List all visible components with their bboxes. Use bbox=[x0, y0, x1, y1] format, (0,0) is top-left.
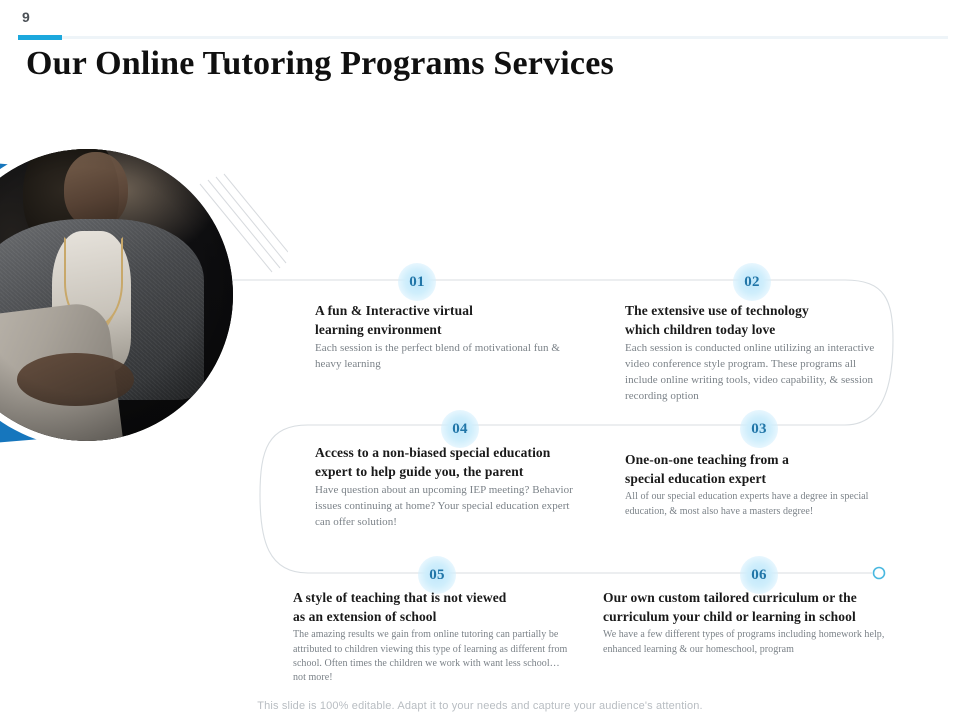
block-description-06: We have a few different types of program… bbox=[603, 628, 885, 656]
block-title-06: Our own custom tailored curriculum or th… bbox=[603, 588, 885, 626]
block-title-line2: special education expert bbox=[625, 471, 766, 486]
block-title-line2: which children today love bbox=[625, 322, 775, 337]
block-title-line2: curriculum your child or learning in sch… bbox=[603, 609, 856, 624]
block-title-05: A style of teaching that is not viewed a… bbox=[293, 588, 575, 626]
block-description-03: All of our special education experts hav… bbox=[625, 490, 893, 518]
block-title-line1: A fun & Interactive virtual bbox=[315, 303, 473, 318]
block-description-02: Each session is conducted online utilizi… bbox=[625, 341, 887, 405]
content-block-05: A style of teaching that is not viewed a… bbox=[293, 588, 575, 685]
decor-diagonal-lines-icon bbox=[198, 168, 288, 278]
step-badge-03: 03 bbox=[740, 410, 778, 448]
block-description-05: The amazing results we gain from online … bbox=[293, 628, 575, 685]
block-title-line1: The extensive use of technology bbox=[625, 303, 809, 318]
block-title-line2: expert to help guide you, the parent bbox=[315, 464, 523, 479]
block-title-line1: Access to a non-biased special education bbox=[315, 445, 550, 460]
content-block-02: The extensive use of technology which ch… bbox=[625, 301, 887, 405]
step-badge-02: 02 bbox=[733, 263, 771, 301]
block-title-04: Access to a non-biased special education… bbox=[315, 443, 587, 481]
header-rule bbox=[18, 36, 948, 39]
content-block-03: One-on-one teaching from a special educa… bbox=[625, 450, 893, 519]
block-title-line1: Our own custom tailored curriculum or th… bbox=[603, 590, 857, 605]
page-number: 9 bbox=[22, 9, 30, 25]
block-title-line2: learning environment bbox=[315, 322, 442, 337]
header-accent-bar bbox=[18, 35, 62, 40]
block-description-01: Each session is the perfect blend of mot… bbox=[315, 341, 565, 373]
block-description-04: Have question about an upcoming IEP meet… bbox=[315, 483, 587, 531]
block-title-line2: as an extension of school bbox=[293, 609, 437, 624]
block-title-line1: A style of teaching that is not viewed bbox=[293, 590, 506, 605]
block-title-line1: One-on-one teaching from a bbox=[625, 452, 789, 467]
content-block-04: Access to a non-biased special education… bbox=[315, 443, 587, 531]
page-title: Our Online Tutoring Programs Services bbox=[26, 45, 614, 83]
block-title-03: One-on-one teaching from a special educa… bbox=[625, 450, 893, 488]
block-title-02: The extensive use of technology which ch… bbox=[625, 301, 887, 339]
slide-canvas: 9 Our Online Tutoring Programs Services bbox=[0, 0, 960, 720]
block-title-01: A fun & Interactive virtual learning env… bbox=[315, 301, 565, 339]
footer-note: This slide is 100% editable. Adapt it to… bbox=[0, 700, 960, 712]
content-block-06: Our own custom tailored curriculum or th… bbox=[603, 588, 885, 657]
content-block-01: A fun & Interactive virtual learning env… bbox=[315, 301, 565, 373]
step-badge-01: 01 bbox=[398, 263, 436, 301]
